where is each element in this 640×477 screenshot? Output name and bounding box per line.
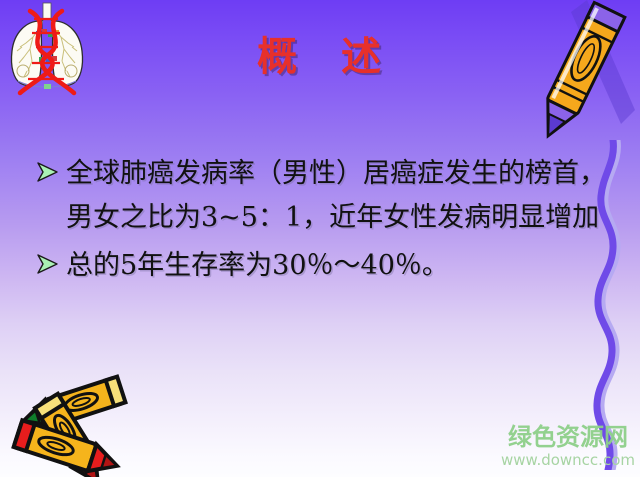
list-item: 全球肺癌发病率（男性）居癌症发生的榜首，男女之比为3~5：1，近年女性发病明显增… (36, 152, 606, 240)
list-item-text: 全球肺癌发病率（男性）居癌症发生的榜首，男女之比为3~5：1，近年女性发病明显增… (66, 158, 606, 233)
list-item-text: 总的5年生存率为30％～40％。 (66, 250, 449, 281)
presentation-slide: 概 述 全球肺癌发病率（男性）居癌症发生的榜首，男女之比为3~5：1，近年女性发… (0, 0, 640, 477)
crossed-crayons-icon (2, 368, 134, 477)
slide-title: 概 述 (0, 24, 640, 82)
green-arrow-bullet-icon (36, 253, 60, 275)
list-item: 总的5年生存率为30％～40％。 (36, 244, 606, 288)
purple-wavy-line-icon (586, 140, 632, 470)
slide-body: 全球肺癌发病率（男性）居癌症发生的榜首，男女之比为3~5：1，近年女性发病明显增… (36, 152, 606, 288)
green-arrow-bullet-icon (36, 161, 60, 183)
